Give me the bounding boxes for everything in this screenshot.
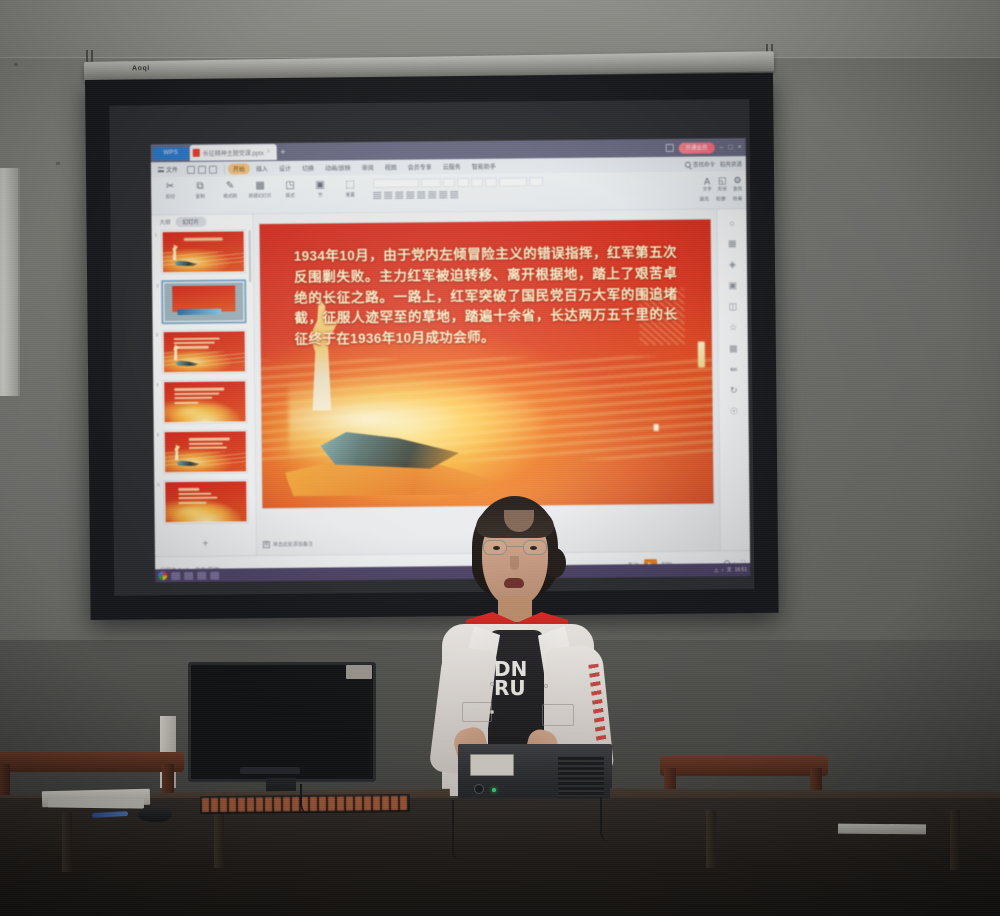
trim-icon[interactable]: ▦ bbox=[728, 343, 739, 354]
thumbnail-slide-6[interactable]: 6 bbox=[163, 479, 248, 524]
monitor-ports bbox=[240, 767, 300, 774]
jacket-button bbox=[490, 710, 494, 714]
ribbon-text-tool[interactable]: A 文字 bbox=[702, 176, 711, 192]
divider bbox=[224, 165, 225, 174]
justify-icon[interactable] bbox=[406, 192, 414, 199]
bold-button[interactable] bbox=[443, 178, 455, 187]
thumbnail-number: 5 bbox=[157, 432, 160, 437]
numbering-icon[interactable] bbox=[428, 191, 436, 198]
ribbon-find-label: 查找 bbox=[733, 186, 742, 192]
jacket-button bbox=[544, 684, 548, 688]
thumbnail-slide-2[interactable]: 2 bbox=[161, 279, 246, 324]
layout-icon[interactable]: ▦ bbox=[727, 238, 738, 249]
ribbon-copy-label: 复制 bbox=[196, 194, 205, 200]
thumbnail-canvas bbox=[164, 282, 243, 321]
share-icon[interactable]: ⇚ bbox=[728, 364, 739, 375]
close-icon[interactable]: × bbox=[267, 149, 271, 155]
tab-cloud[interactable]: 云服务 bbox=[438, 161, 466, 172]
gear-icon: ⚙ bbox=[733, 175, 741, 186]
system-tray: △ ♪ 文 16:51 bbox=[714, 566, 747, 573]
ribbon-section-label: 节 bbox=[318, 193, 323, 199]
power-cable bbox=[600, 798, 610, 842]
ribbon-right-tools: A 文字 ◱ 形状 ⚙ 查找 bbox=[702, 175, 742, 192]
copy-icon: ⧉ bbox=[194, 180, 207, 193]
fringe bbox=[476, 504, 554, 538]
ribbon-right-tools-2: 填充 轮廓 效果 bbox=[699, 195, 742, 202]
ribbon-brush-label: 格式刷 bbox=[223, 193, 237, 199]
text-icon: A bbox=[704, 176, 710, 186]
start-orb-icon[interactable] bbox=[158, 571, 167, 580]
effects-label[interactable]: 效果 bbox=[733, 195, 743, 202]
thumbnail-slide-1[interactable]: 1 bbox=[161, 229, 246, 274]
search-input[interactable]: 查找命令 bbox=[685, 160, 715, 168]
ribbon-new-slide-label: 新建幻灯片 bbox=[249, 193, 272, 199]
thumbnail-number: 3 bbox=[156, 332, 159, 337]
paper-sheet bbox=[48, 797, 144, 808]
monitor-sticker bbox=[346, 665, 372, 679]
document-tab[interactable]: 长征精神主题党课.pptx × bbox=[190, 144, 277, 161]
text-effects-button[interactable] bbox=[499, 177, 527, 186]
file-menu-label: 文件 bbox=[166, 165, 178, 174]
ribbon-section[interactable]: ▣ 节 bbox=[307, 178, 333, 198]
titlebar-right-group: 开通会员 – □ × bbox=[665, 142, 745, 154]
new-tab-button[interactable]: + bbox=[280, 147, 285, 157]
new-slide-icon: ▦ bbox=[254, 179, 267, 192]
shapes-icon[interactable]: ◈ bbox=[727, 259, 738, 270]
maximize-icon[interactable]: □ bbox=[728, 144, 732, 151]
ribbon-text-label: 文字 bbox=[703, 186, 712, 192]
wall-mark bbox=[14, 63, 18, 66]
ribbon-toolbar: ✂ 剪切 ⧉ 复制 ✎ 格式刷 bbox=[151, 171, 746, 215]
power-led bbox=[492, 788, 496, 792]
ribbon-layout-label: 版式 bbox=[286, 193, 295, 199]
jacket-button bbox=[490, 682, 494, 686]
current-slide[interactable]: 1934年10月，由于党内左倾冒险主义的错误指挥，红军第五次反围剿失败。主力红军… bbox=[260, 219, 714, 508]
add-slide-button[interactable]: + bbox=[155, 538, 256, 550]
thumbnail-canvas bbox=[165, 481, 246, 522]
thumbnail-number: 1 bbox=[155, 232, 158, 237]
thumbnail-number: 6 bbox=[157, 482, 160, 487]
ribbon-shape-tool[interactable]: ◱ 形状 bbox=[718, 175, 727, 192]
minimize-icon[interactable]: – bbox=[719, 144, 723, 151]
shape-icon: ◱ bbox=[718, 175, 727, 186]
eyeglasses bbox=[482, 540, 548, 555]
thumbnail-canvas bbox=[165, 431, 246, 472]
mail-icon[interactable] bbox=[210, 571, 219, 579]
thumbnail-canvas bbox=[164, 381, 245, 422]
power-button[interactable] bbox=[474, 784, 484, 794]
ceiling-band bbox=[0, 0, 1000, 58]
media-icon[interactable]: ◫ bbox=[727, 301, 738, 312]
thumbnail-number: 2 bbox=[156, 283, 159, 288]
computer-mouse[interactable] bbox=[138, 806, 172, 822]
desk-leg bbox=[62, 812, 72, 872]
slide-body-text[interactable]: 1934年10月，由于党内左倾冒险主义的错误指挥，红军第五次反围剿失败。主力红军… bbox=[294, 243, 678, 352]
ribbon-shape-label: 形状 bbox=[718, 186, 727, 192]
italic-button[interactable] bbox=[457, 178, 469, 187]
jacket-pocket-left bbox=[462, 702, 492, 722]
ribbon-right-group: 查找命令 稻壳资源 bbox=[685, 160, 746, 169]
clear-format-button[interactable] bbox=[529, 177, 543, 186]
font-size-select[interactable] bbox=[421, 178, 441, 187]
quick-access-toolbar bbox=[187, 165, 217, 173]
pptx-file-icon bbox=[193, 149, 200, 157]
desk-leg bbox=[214, 812, 224, 868]
ribbon-reset-label: 重置 bbox=[346, 192, 355, 198]
ribbon-find-tool[interactable]: ⚙ 查找 bbox=[733, 175, 742, 192]
monitor-cable bbox=[300, 784, 310, 814]
wps-logo: WPS bbox=[153, 146, 189, 159]
underline-button[interactable] bbox=[471, 178, 483, 187]
volume-icon[interactable]: ♪ bbox=[721, 567, 724, 573]
fill-label[interactable]: 填充 bbox=[699, 195, 709, 202]
paragraph-toolbar bbox=[373, 191, 458, 199]
wps-icon[interactable] bbox=[197, 571, 206, 579]
tab-insert[interactable]: 插入 bbox=[251, 163, 273, 174]
undo-icon[interactable] bbox=[198, 165, 206, 173]
thumbnail-number: 4 bbox=[156, 382, 159, 387]
hamburger-icon bbox=[158, 167, 164, 172]
right-tool-rail: ○ ▦ ◈ ▣ ◫ ☆ ▦ ⇚ ↻ ☉ bbox=[716, 209, 750, 550]
docer-link[interactable]: 稻壳资源 bbox=[720, 160, 742, 168]
search-placeholder: 查找命令 bbox=[693, 160, 715, 168]
ribbon-cut[interactable]: ✂ 剪切 bbox=[157, 180, 183, 200]
clock[interactable]: 16:51 bbox=[735, 567, 748, 573]
document-tab-label: 长征精神主题党课.pptx bbox=[203, 148, 264, 158]
image-icon[interactable]: ▣ bbox=[727, 280, 738, 291]
tab-view[interactable]: 视图 bbox=[380, 162, 402, 173]
network-icon[interactable]: △ bbox=[714, 567, 718, 573]
tab-transition[interactable]: 切换 bbox=[297, 163, 319, 174]
wall-mark bbox=[56, 162, 60, 165]
ribbon-new-slide[interactable]: ▦ 新建幻灯片 bbox=[247, 179, 273, 199]
mouth bbox=[504, 578, 524, 588]
notes-placeholder-label: 单击此处添加备注 bbox=[273, 540, 313, 547]
thumbnail-pane-header: 大纲 幻灯片 bbox=[151, 214, 252, 228]
search-icon bbox=[685, 161, 691, 167]
jacket-pocket-right bbox=[542, 704, 574, 726]
optical-drive-bay bbox=[470, 754, 514, 776]
layout-toggle-icon[interactable] bbox=[665, 144, 673, 152]
layout-icon: ◳ bbox=[284, 179, 297, 192]
screen-brand-label: Aoqi bbox=[132, 65, 150, 72]
front-vent bbox=[558, 756, 604, 802]
redo-icon[interactable] bbox=[209, 165, 217, 173]
brush-icon: ✎ bbox=[224, 179, 237, 192]
ribbon-cut-label: 剪切 bbox=[166, 194, 175, 200]
desk-leg bbox=[950, 810, 960, 870]
computer-monitor bbox=[188, 662, 376, 782]
font-toolbar bbox=[373, 177, 543, 188]
tab-design[interactable]: 设计 bbox=[274, 163, 296, 174]
classroom-scene: Aoqi WPS 长征精神主题党课.pptx × + 开通会员 bbox=[0, 0, 1000, 916]
outline-label[interactable]: 轮廓 bbox=[716, 195, 726, 202]
tab-member[interactable]: 会员专享 bbox=[403, 161, 437, 172]
favorite-icon[interactable]: ☆ bbox=[728, 322, 739, 333]
thumbnail-canvas bbox=[163, 231, 244, 272]
tab-start[interactable]: 开始 bbox=[228, 163, 250, 174]
history-icon[interactable]: ↻ bbox=[728, 385, 739, 396]
tshirt-print: DN RU bbox=[494, 660, 534, 730]
vip-upgrade-button[interactable]: 开通会员 bbox=[678, 142, 714, 153]
tab-review[interactable]: 审阅 bbox=[357, 162, 379, 173]
save-icon[interactable] bbox=[187, 165, 195, 173]
whiteboard-edge bbox=[0, 168, 20, 396]
monitor-panel bbox=[188, 662, 376, 782]
ime-icon[interactable]: 文 bbox=[727, 566, 732, 573]
close-window-icon[interactable]: × bbox=[738, 144, 742, 151]
help-icon[interactable]: ☉ bbox=[728, 406, 739, 417]
bullets-icon[interactable] bbox=[417, 191, 425, 198]
align-right-icon[interactable] bbox=[395, 192, 403, 199]
scissors-icon: ✂ bbox=[164, 180, 177, 193]
explorer-icon[interactable] bbox=[171, 572, 180, 580]
indent-icon[interactable] bbox=[450, 191, 458, 198]
tab-animation[interactable]: 动画/放映 bbox=[320, 162, 356, 173]
ribbon-reset[interactable]: ⬚ 重置 bbox=[337, 178, 363, 198]
thumbnail-slide-3[interactable]: 3 bbox=[162, 329, 247, 374]
align-left-icon[interactable] bbox=[373, 192, 381, 199]
pc-cable bbox=[452, 800, 460, 860]
section-icon: ▣ bbox=[314, 178, 327, 191]
tab-slides[interactable]: 幻灯片 bbox=[175, 216, 206, 226]
paper-on-right-desk bbox=[838, 824, 926, 835]
nose bbox=[510, 556, 519, 570]
tab-outline[interactable]: 大纲 bbox=[159, 218, 170, 226]
thumbnail-slide-5[interactable]: 5 bbox=[163, 429, 248, 474]
reset-icon: ⬚ bbox=[344, 178, 357, 191]
file-menu-button[interactable]: 文件 bbox=[154, 165, 182, 174]
desk-leg bbox=[706, 810, 716, 868]
browser-icon[interactable] bbox=[184, 571, 193, 579]
ribbon-layout[interactable]: ◳ 版式 bbox=[277, 179, 303, 199]
line-spacing-icon[interactable] bbox=[439, 191, 447, 198]
font-color-button[interactable] bbox=[485, 178, 497, 187]
tab-assistant[interactable]: 智能助手 bbox=[467, 161, 501, 172]
align-center-icon[interactable] bbox=[384, 192, 392, 199]
thumbnail-slide-4[interactable]: 4 bbox=[162, 379, 247, 424]
slide-thumbnail-pane: 大纲 幻灯片 1 bbox=[151, 214, 257, 556]
ribbon-copy[interactable]: ⧉ 复制 bbox=[187, 180, 213, 200]
thumbnail-canvas bbox=[164, 331, 245, 372]
style-icon[interactable]: ○ bbox=[726, 217, 737, 228]
thumbnail-list[interactable]: 1 2 bbox=[152, 227, 256, 534]
font-name-select[interactable] bbox=[373, 179, 419, 188]
notes-icon: ⊞ bbox=[263, 541, 270, 548]
ribbon-format-brush[interactable]: ✎ 格式刷 bbox=[217, 179, 243, 199]
